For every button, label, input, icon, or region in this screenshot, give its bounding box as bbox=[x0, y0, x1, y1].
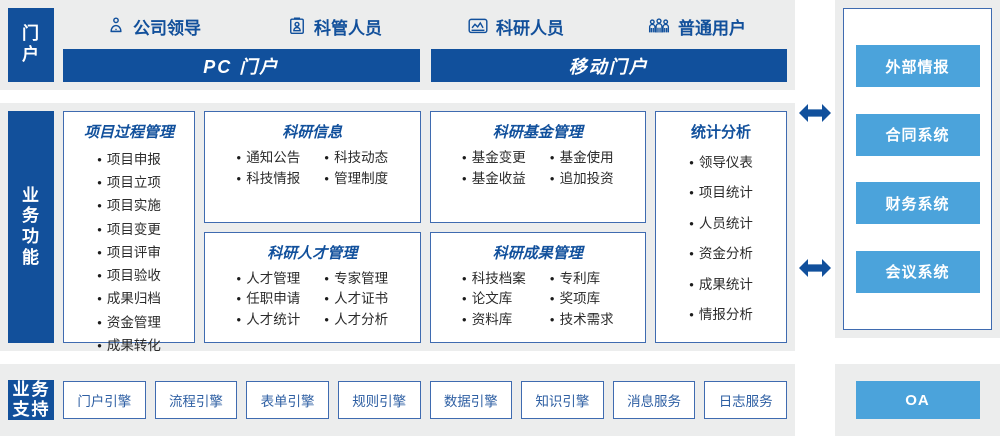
support-label-char-2: 务 bbox=[31, 380, 50, 400]
list-item[interactable]: 基金收益 bbox=[462, 169, 526, 190]
list-item[interactable]: 论文库 bbox=[462, 289, 526, 310]
list-item[interactable]: 成果转化 bbox=[97, 334, 161, 357]
function-label-char-2: 务 bbox=[22, 206, 40, 227]
list-item[interactable]: 领导仪表 bbox=[689, 148, 753, 178]
bidirectional-arrow-top-icon bbox=[798, 100, 832, 126]
list-item[interactable]: 项目统计 bbox=[689, 178, 753, 208]
list-item[interactable]: 项目变更 bbox=[97, 218, 161, 241]
bidirectional-arrow-bottom-icon bbox=[798, 255, 832, 281]
support-label-char-1: 业 bbox=[12, 380, 31, 400]
list-item[interactable]: 技术需求 bbox=[550, 310, 614, 331]
list-item[interactable]: 通知公告 bbox=[236, 148, 300, 169]
function-label-char-4: 能 bbox=[22, 248, 40, 269]
list-item[interactable]: 任职申请 bbox=[236, 289, 300, 310]
item-column: 科技档案 论文库 资料库 bbox=[462, 269, 526, 332]
list-item[interactable]: 项目立项 bbox=[97, 171, 161, 194]
connector-column bbox=[795, 0, 835, 436]
list-item[interactable]: 成果统计 bbox=[689, 270, 753, 300]
chart-monitor-icon bbox=[467, 16, 489, 36]
list-item[interactable]: 科技档案 bbox=[462, 269, 526, 290]
list-item[interactable]: 资金分析 bbox=[689, 239, 753, 269]
item-column: 科技动态 管理制度 bbox=[324, 148, 388, 190]
engine-workflow[interactable]: 流程引擎 bbox=[155, 381, 238, 419]
item-column: 基金使用 追加投资 bbox=[550, 148, 614, 190]
card-item-columns: 领导仪表 项目统计 人员统计 资金分析 成果统计 情报分析 bbox=[689, 148, 753, 330]
role-company-leader[interactable]: 公司领导 bbox=[63, 14, 244, 39]
item-column: 人才管理 任职申请 人才统计 bbox=[236, 269, 300, 332]
card-title: 科研基金管理 bbox=[493, 121, 583, 142]
card-title: 科研人才管理 bbox=[267, 242, 357, 263]
business-support-band-label: 业 务 支 持 bbox=[8, 380, 54, 420]
item-column: 专家管理 人才证书 人才分析 bbox=[324, 269, 388, 332]
role-label: 科管人员 bbox=[314, 14, 382, 39]
card-title: 统计分析 bbox=[691, 121, 751, 142]
business-support-band: 业 务 支 持 门户引擎 流程引擎 表单引擎 规则引擎 数据引擎 知识引擎 消息… bbox=[0, 364, 795, 436]
role-researcher[interactable]: 科研人员 bbox=[425, 14, 606, 39]
function-label-char-1: 业 bbox=[22, 186, 40, 207]
item-column: 项目申报 项目立项 项目实施 项目变更 项目评审 项目验收 成果归档 资金管理 … bbox=[97, 148, 161, 357]
role-label: 公司领导 bbox=[133, 14, 201, 39]
role-label: 普通用户 bbox=[678, 14, 746, 39]
portal-band: 门 户 公司领导 bbox=[0, 0, 795, 90]
support-label-char-3: 支 bbox=[12, 400, 31, 420]
item-column: 领导仪表 项目统计 人员统计 资金分析 成果统计 情报分析 bbox=[689, 148, 753, 330]
card-title: 项目过程管理 bbox=[84, 121, 174, 142]
function-card-row-bottom: 科研人才管理 人才管理 任职申请 人才统计 专家管理 人才证书 bbox=[204, 232, 646, 344]
function-label-char-3: 功 bbox=[22, 227, 40, 248]
service-message[interactable]: 消息服务 bbox=[613, 381, 696, 419]
external-system-intelligence[interactable]: 外部情报 bbox=[856, 45, 980, 87]
list-item[interactable]: 追加投资 bbox=[550, 169, 614, 190]
engine-form[interactable]: 表单引擎 bbox=[246, 381, 329, 419]
external-system-finance[interactable]: 财务系统 bbox=[856, 182, 980, 224]
business-function-band-label: 业 务 功 能 bbox=[8, 111, 54, 343]
function-cards: 项目过程管理 项目申报 项目立项 项目实施 项目变更 项目评审 项目验收 成果归… bbox=[63, 111, 787, 343]
item-column: 专利库 奖项库 技术需求 bbox=[550, 269, 614, 332]
list-item[interactable]: 成果归档 bbox=[97, 287, 161, 310]
card-item-columns: 基金变更 基金收益 基金使用 追加投资 bbox=[462, 148, 614, 190]
list-item[interactable]: 项目评审 bbox=[97, 241, 161, 264]
card-item-columns: 科技档案 论文库 资料库 专利库 奖项库 技术需求 bbox=[462, 269, 614, 332]
portal-label-char-2: 户 bbox=[22, 45, 40, 66]
service-log[interactable]: 日志服务 bbox=[704, 381, 787, 419]
external-systems-column: 外部情报 合同系统 财务系统 会议系统 OA bbox=[835, 0, 1000, 436]
portal-label-char-1: 门 bbox=[22, 24, 40, 45]
list-item[interactable]: 资料库 bbox=[462, 310, 526, 331]
list-item[interactable]: 项目验收 bbox=[97, 264, 161, 287]
portal-bar-mobile[interactable]: 移动门户 bbox=[431, 49, 788, 82]
card-title: 科研信息 bbox=[282, 121, 342, 142]
card-research-achievement-management[interactable]: 科研成果管理 科技档案 论文库 资料库 专利库 奖项库 bbox=[430, 232, 647, 344]
external-system-contract[interactable]: 合同系统 bbox=[856, 114, 980, 156]
function-card-grid: 科研信息 通知公告 科技情报 科技动态 管理制度 bbox=[204, 111, 646, 343]
portal-band-label: 门 户 bbox=[8, 8, 54, 82]
portal-bar-row: PC 门户 移动门户 bbox=[63, 49, 787, 82]
portal-content: 公司领导 科管人员 bbox=[63, 8, 787, 82]
card-item-columns: 人才管理 任职申请 人才统计 专家管理 人才证书 人才分析 bbox=[236, 269, 388, 332]
card-research-fund-management[interactable]: 科研基金管理 基金变更 基金收益 基金使用 追加投资 bbox=[430, 111, 647, 223]
role-label: 科研人员 bbox=[496, 14, 564, 39]
external-system-oa[interactable]: OA bbox=[856, 381, 980, 419]
external-systems-band: 外部情报 合同系统 财务系统 会议系统 bbox=[835, 0, 1000, 338]
portal-bar-pc[interactable]: PC 门户 bbox=[63, 49, 420, 82]
support-label-char-4: 持 bbox=[31, 400, 50, 420]
engine-rule[interactable]: 规则引擎 bbox=[338, 381, 421, 419]
list-item[interactable]: 科技情报 bbox=[236, 169, 300, 190]
card-research-information[interactable]: 科研信息 通知公告 科技情报 科技动态 管理制度 bbox=[204, 111, 421, 223]
list-item[interactable]: 科技动态 bbox=[324, 148, 388, 169]
card-item-columns: 项目申报 项目立项 项目实施 项目变更 项目评审 项目验收 成果归档 资金管理 … bbox=[97, 148, 161, 357]
role-general-user[interactable]: 普通用户 bbox=[606, 14, 787, 39]
card-title: 科研成果管理 bbox=[493, 242, 583, 263]
engine-row: 门户引擎 流程引擎 表单引擎 规则引擎 数据引擎 知识引擎 消息服务 日志服务 bbox=[63, 381, 787, 419]
external-system-meeting[interactable]: 会议系统 bbox=[856, 251, 980, 293]
list-item[interactable]: 管理制度 bbox=[324, 169, 388, 190]
list-item[interactable]: 基金变更 bbox=[462, 148, 526, 169]
main-column: 门 户 公司领导 bbox=[0, 0, 795, 436]
leader-person-icon bbox=[106, 16, 126, 36]
oa-band: OA bbox=[835, 364, 1000, 436]
item-column: 通知公告 科技情报 bbox=[236, 148, 300, 190]
role-row: 公司领导 科管人员 bbox=[63, 8, 787, 44]
item-column: 基金变更 基金收益 bbox=[462, 148, 526, 190]
list-item[interactable]: 人才统计 bbox=[236, 310, 300, 331]
role-research-admin[interactable]: 科管人员 bbox=[244, 14, 425, 39]
user-group-icon bbox=[647, 16, 671, 36]
engine-data[interactable]: 数据引擎 bbox=[430, 381, 513, 419]
external-systems-panel: 外部情报 合同系统 财务系统 会议系统 bbox=[843, 8, 992, 330]
function-card-row-top: 科研信息 通知公告 科技情报 科技动态 管理制度 bbox=[204, 111, 646, 223]
list-item[interactable]: 项目实施 bbox=[97, 194, 161, 217]
architecture-diagram: 门 户 公司领导 bbox=[0, 0, 1000, 436]
engine-knowledge[interactable]: 知识引擎 bbox=[521, 381, 604, 419]
list-item[interactable]: 基金使用 bbox=[550, 148, 614, 169]
list-item[interactable]: 资金管理 bbox=[97, 311, 161, 334]
card-item-columns: 通知公告 科技情报 科技动态 管理制度 bbox=[236, 148, 388, 190]
card-research-talent-management[interactable]: 科研人才管理 人才管理 任职申请 人才统计 专家管理 人才证书 bbox=[204, 232, 421, 344]
engine-portal[interactable]: 门户引擎 bbox=[63, 381, 146, 419]
business-function-band: 业 务 功 能 项目过程管理 项目申报 项目立项 项目实施 项目变更 bbox=[0, 103, 795, 351]
list-item[interactable]: 人员统计 bbox=[689, 209, 753, 239]
card-project-process-management[interactable]: 项目过程管理 项目申报 项目立项 项目实施 项目变更 项目评审 项目验收 成果归… bbox=[63, 111, 195, 343]
card-statistical-analysis[interactable]: 统计分析 领导仪表 项目统计 人员统计 资金分析 成果统计 情报分析 bbox=[655, 111, 787, 343]
clipboard-person-icon bbox=[287, 16, 307, 36]
list-item[interactable]: 项目申报 bbox=[97, 148, 161, 171]
list-item[interactable]: 情报分析 bbox=[689, 300, 753, 330]
list-item[interactable]: 奖项库 bbox=[550, 289, 614, 310]
list-item[interactable]: 人才管理 bbox=[236, 269, 300, 290]
list-item[interactable]: 人才分析 bbox=[324, 310, 388, 331]
list-item[interactable]: 专利库 bbox=[550, 269, 614, 290]
list-item[interactable]: 人才证书 bbox=[324, 289, 388, 310]
list-item[interactable]: 专家管理 bbox=[324, 269, 388, 290]
